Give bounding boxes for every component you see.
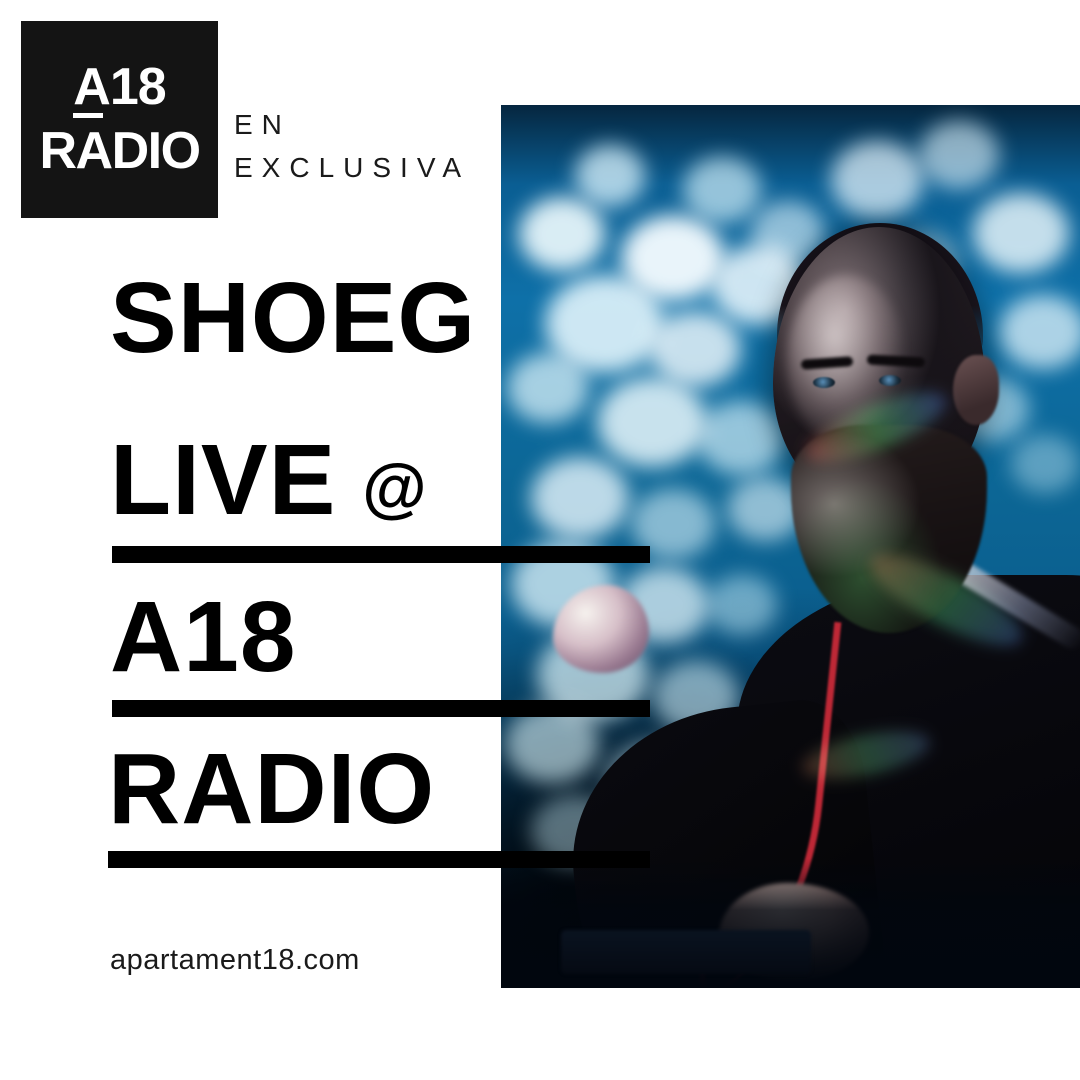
headline-line-shoeg: SHOEG xyxy=(110,268,670,368)
hand-upper xyxy=(553,585,649,673)
headline-line-a18: A18 xyxy=(110,587,296,687)
ear-shape xyxy=(953,355,999,425)
logo-a18-text: A18 xyxy=(73,58,165,116)
poster-canvas: A18 RADIO EN EXCLUSIVA SHOEG LIVE@ A18 R… xyxy=(0,0,1080,1080)
rule-bar-top xyxy=(112,546,650,563)
equipment-shape xyxy=(561,930,811,974)
eye-right xyxy=(879,375,901,386)
logo-line-radio: RADIO xyxy=(39,128,199,176)
headline-line-live: LIVE@ xyxy=(110,430,670,530)
eye-left xyxy=(813,377,835,388)
website-url[interactable]: apartament18.com xyxy=(110,944,360,977)
headline-block: SHOEG LIVE@ xyxy=(110,268,670,530)
rule-bar-middle xyxy=(112,700,650,717)
a18-radio-logo[interactable]: A18 RADIO xyxy=(21,21,218,218)
logo-line-a18: A18 xyxy=(73,64,165,118)
at-symbol: @ xyxy=(336,454,426,520)
logo-underline-accent xyxy=(73,113,103,118)
headline-line-radio: RADIO xyxy=(108,739,435,839)
kicker-en-exclusiva: EN EXCLUSIVA xyxy=(234,103,470,190)
headline-live-text: LIVE xyxy=(110,424,336,536)
rule-bar-bottom xyxy=(108,851,650,868)
